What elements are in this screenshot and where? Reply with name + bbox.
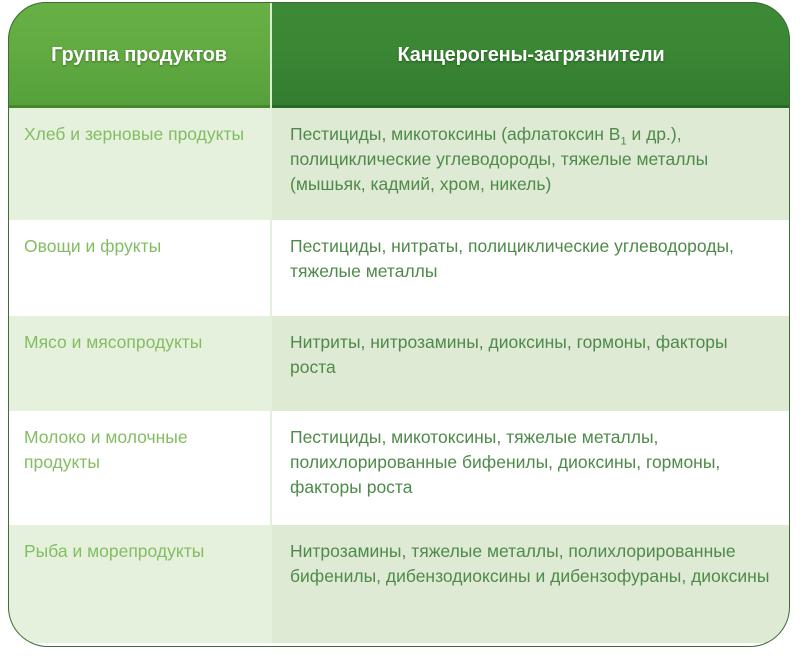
table-row: Хлеб и зерновые продукты Пестициды, мико… (8, 108, 790, 220)
cell-product-group: Молоко и молочные продукты (8, 411, 272, 525)
table-header-row: Группа продуктов Канцерогены-загрязнител… (8, 2, 790, 108)
cell-carcinogens: Пестициды, нитраты, полициклические угле… (272, 220, 790, 316)
carcinogens-table: Группа продуктов Канцерогены-загрязнител… (8, 2, 790, 647)
cell-product-group: Рыба и морепродукты (8, 525, 272, 643)
cell-carcinogens: Нитрозамины, тяжелые металлы, полихлорир… (272, 525, 790, 643)
cell-carcinogens: Нитриты, нитрозамины, диоксины, гормоны,… (272, 316, 790, 411)
table-row: Мясо и мясопродукты Нитриты, нитрозамины… (8, 316, 790, 411)
cell-carcinogens: Пестициды, микотоксины (афлатоксин B1 и … (272, 108, 790, 220)
column-header-carcinogens: Канцерогены-загрязнители (272, 2, 790, 108)
table-row: Овощи и фрукты Пестициды, нитраты, полиц… (8, 220, 790, 316)
cell-carcinogens: Пестициды, микотоксины, тяжелые металлы,… (272, 411, 790, 525)
table-row: Рыба и морепродукты Нитрозамины, тяжелые… (8, 525, 790, 643)
table-row: Молоко и молочные продукты Пестициды, ми… (8, 411, 790, 525)
cell-product-group: Овощи и фрукты (8, 220, 272, 316)
cell-product-group: Хлеб и зерновые продукты (8, 108, 272, 220)
cell-product-group: Мясо и мясопродукты (8, 316, 272, 411)
table-container: Группа продуктов Канцерогены-загрязнител… (0, 0, 806, 658)
column-header-product-group: Группа продуктов (8, 2, 272, 108)
carcinogens-text-pre: Пестициды, микотоксины (афлатоксин B (290, 124, 620, 144)
table-body: Хлеб и зерновые продукты Пестициды, мико… (8, 108, 790, 643)
